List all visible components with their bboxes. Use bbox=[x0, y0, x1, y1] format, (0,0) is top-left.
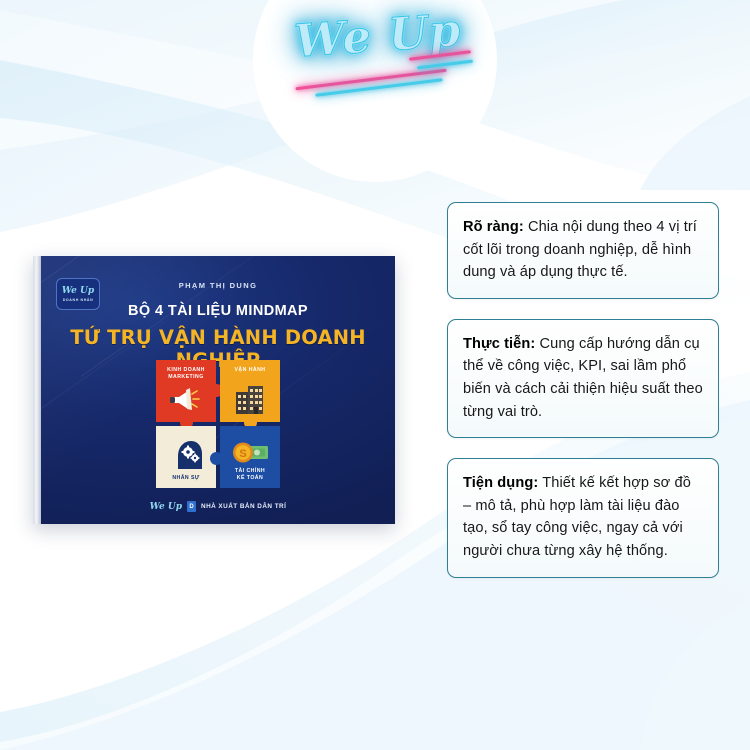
svg-text:S: S bbox=[239, 448, 246, 460]
puzzle-piece-tai-chinh-ke-toan: TÀI CHÍNHKẾ TOÁN S bbox=[220, 426, 280, 488]
weup-logo: We Up bbox=[283, 6, 473, 94]
feature-card-ro-rang: Rõ ràng: Chia nội dung theo 4 vị trí cốt… bbox=[447, 202, 719, 299]
puzzle-piece-nhan-su: NHÂN SỰ bbox=[156, 426, 216, 488]
puzzle-label-tai-chinh-ke-toan: TÀI CHÍNHKẾ TOÁN bbox=[220, 468, 280, 482]
poster-canvas: We Up We Up DOANH NHÂN PHẠM THỊ DUNG BỘ … bbox=[0, 0, 750, 750]
book-subtitle: BỘ 4 TÀI LIỆU MINDMAP bbox=[41, 303, 395, 319]
building-icon bbox=[233, 384, 267, 414]
puzzle-label-nhan-su: NHÂN SỰ bbox=[156, 475, 216, 482]
feature-list: Rõ ràng: Chia nội dung theo 4 vị trí cốt… bbox=[447, 202, 719, 598]
puzzle-piece-kinh-doanh-marketing: KINH DOANHMARKETING bbox=[156, 360, 216, 422]
feature-heading-tien-dung: Tiện dụng: bbox=[463, 475, 538, 491]
book-author: PHẠM THỊ DUNG bbox=[41, 281, 395, 290]
book-spine bbox=[33, 256, 41, 524]
coin-money-icon: S bbox=[230, 440, 270, 466]
feature-text-thuc-tien: Thực tiễn: Cung cấp hướng dẫn cụ thể về … bbox=[463, 333, 703, 423]
book-mockup: We Up DOANH NHÂN PHẠM THỊ DUNG BỘ 4 TÀI … bbox=[33, 256, 395, 524]
puzzle-graphic: KINH DOANHMARKETING VẬN HÀNH bbox=[156, 360, 280, 490]
publisher-line: We Up D NHÀ XUẤT BẢN DÂN TRÍ bbox=[41, 501, 395, 512]
feature-card-tien-dung: Tiện dụng: Thiết kế kết hợp sơ đồ – mô t… bbox=[447, 458, 719, 577]
puzzle-knob-bl-right bbox=[210, 452, 223, 465]
publisher-brand-script: We Up bbox=[150, 502, 182, 512]
cover-brand-subtitle: DOANH NHÂN bbox=[63, 298, 94, 302]
publisher-name: NHÀ XUẤT BẢN DÂN TRÍ bbox=[201, 503, 286, 510]
puzzle-piece-van-hanh: VẬN HÀNH bbox=[220, 360, 280, 422]
feature-card-thuc-tien: Thực tiễn: Cung cấp hướng dẫn cụ thể về … bbox=[447, 319, 719, 438]
feature-heading-thuc-tien: Thực tiễn: bbox=[463, 336, 535, 352]
puzzle-label-van-hanh: VẬN HÀNH bbox=[220, 367, 280, 374]
head-gears-icon bbox=[169, 438, 203, 470]
megaphone-icon bbox=[168, 386, 204, 412]
feature-heading-ro-rang: Rõ ràng: bbox=[463, 219, 524, 235]
feature-text-ro-rang: Rõ ràng: Chia nội dung theo 4 vị trí cốt… bbox=[463, 216, 703, 284]
puzzle-label-kinh-doanh-marketing: KINH DOANHMARKETING bbox=[156, 367, 216, 381]
book-cover: We Up DOANH NHÂN PHẠM THỊ DUNG BỘ 4 TÀI … bbox=[41, 256, 395, 524]
publisher-mark-icon: D bbox=[187, 501, 196, 512]
feature-text-tien-dung: Tiện dụng: Thiết kế kết hợp sơ đồ – mô t… bbox=[463, 472, 703, 562]
